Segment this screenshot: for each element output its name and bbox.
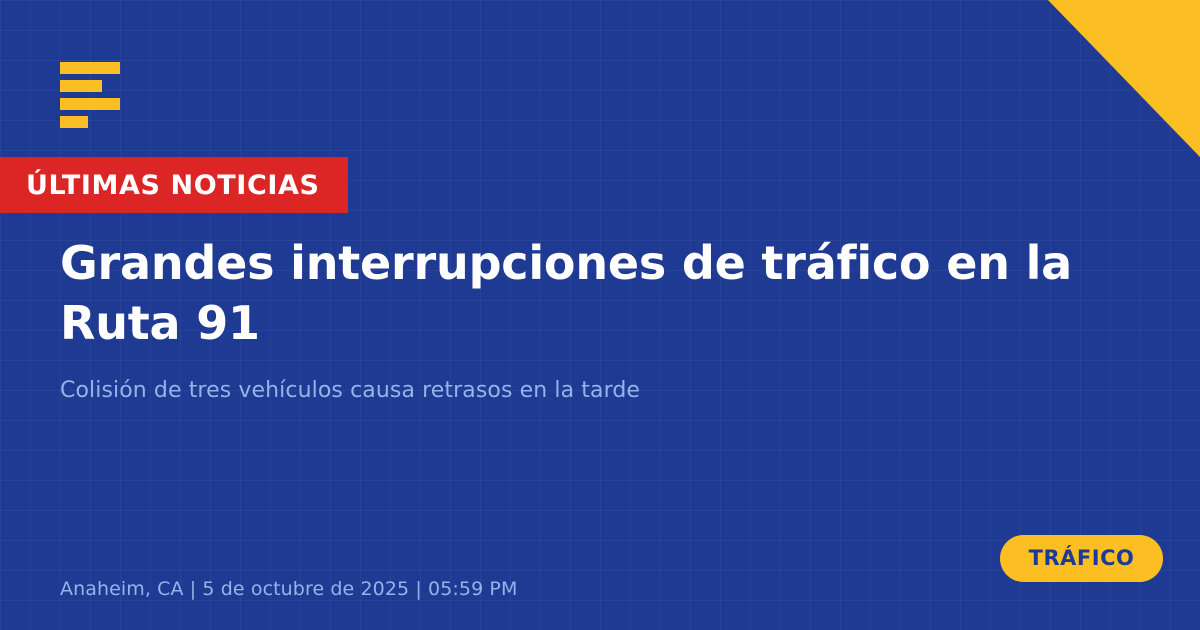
logo-bar-2 (60, 80, 102, 92)
category-badge[interactable]: TRÁFICO (1000, 535, 1163, 582)
logo-bar-1 (60, 62, 120, 74)
headline-block: Grandes interrupciones de tráfico en la … (60, 234, 1180, 405)
article-meta: Anaheim, CA | 5 de octubre de 2025 | 05:… (60, 578, 517, 600)
corner-triangle-icon (1048, 0, 1200, 157)
page-title: Grandes interrupciones de tráfico en la … (60, 234, 1180, 354)
category-badge-label: TRÁFICO (1029, 548, 1135, 569)
logo-bar-3 (60, 98, 120, 110)
breaking-news-card: ÚLTIMAS NOTICIAS Grandes interrupciones … (0, 0, 1200, 630)
stacked-bars-logo[interactable] (60, 62, 120, 128)
breaking-news-banner: ÚLTIMAS NOTICIAS (0, 157, 348, 213)
article-subheadline: Colisión de tres vehículos causa retraso… (60, 376, 1180, 406)
breaking-news-label: ÚLTIMAS NOTICIAS (26, 172, 320, 199)
logo-bar-4 (60, 116, 88, 128)
